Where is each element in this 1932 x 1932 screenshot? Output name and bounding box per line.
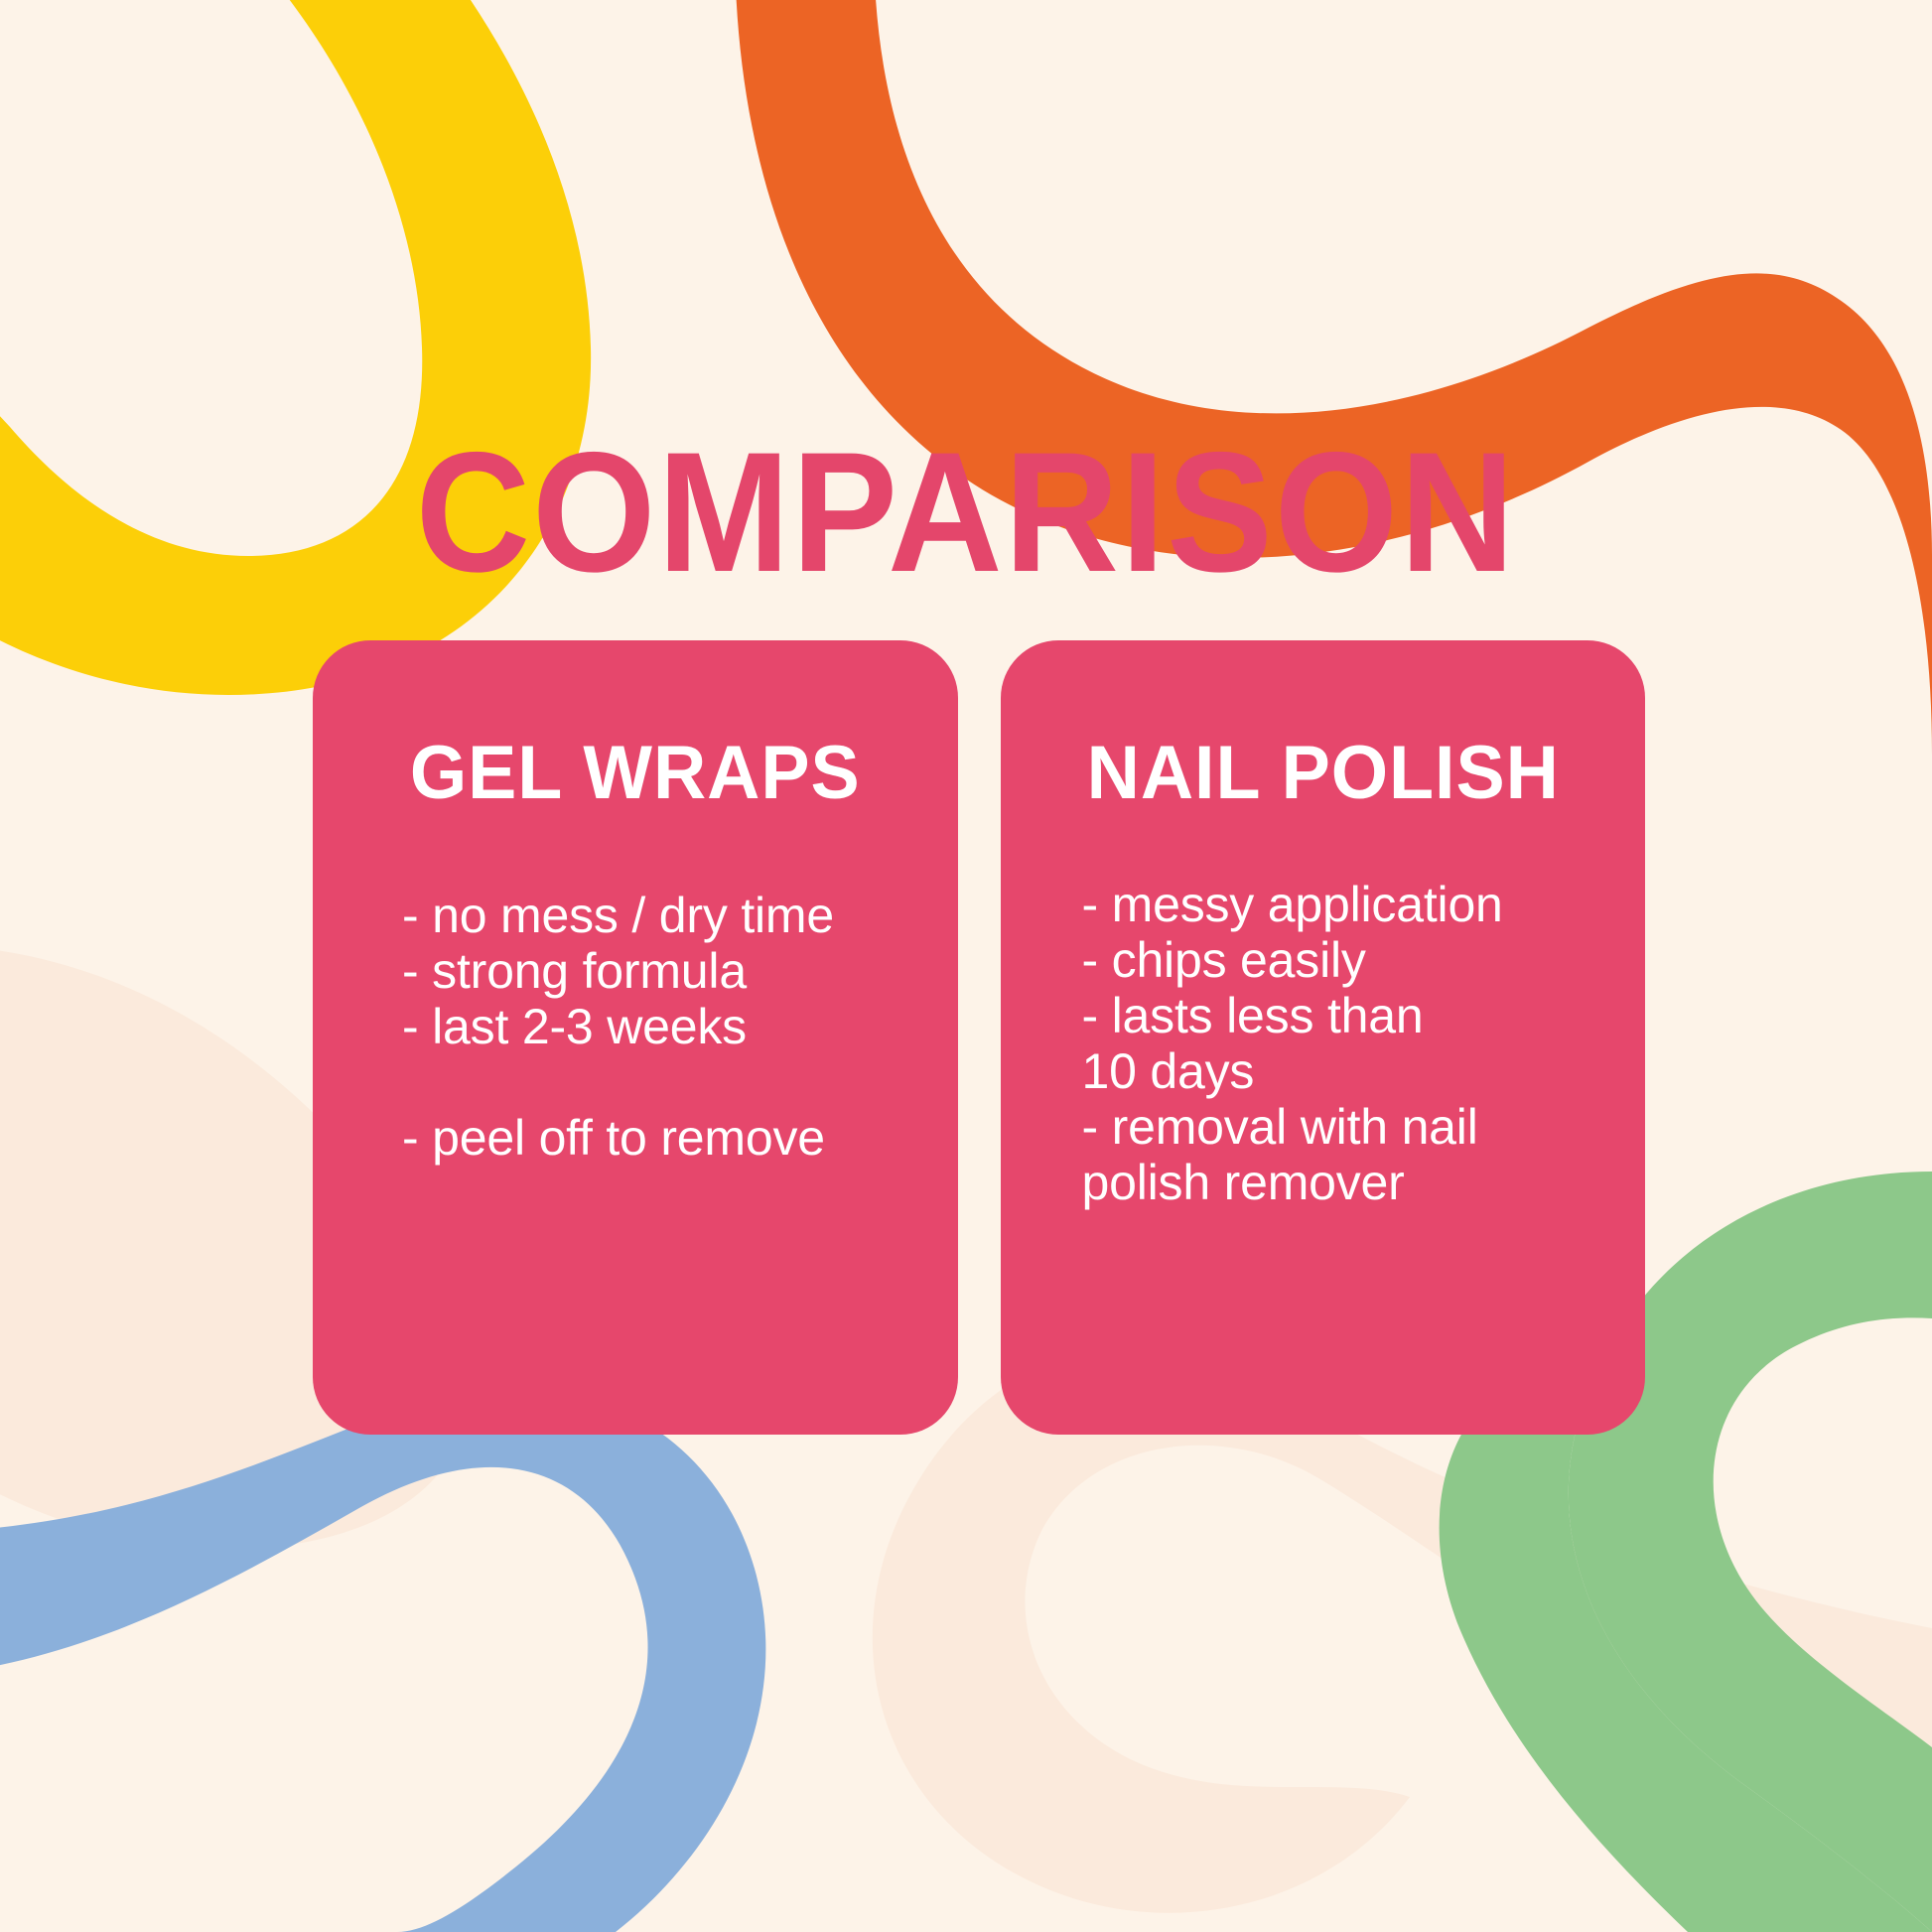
- comparison-card-gel-wraps: GEL WRAPS - no mess / dry time - strong …: [313, 640, 958, 1435]
- comparison-poster: COMPARISON GEL WRAPS - no mess / dry tim…: [0, 0, 1932, 1932]
- comparison-card-nail-polish: NAIL POLISH - messy application - chips …: [1001, 640, 1646, 1435]
- card-list-gel-wraps: - no mess / dry time - strong formula - …: [402, 888, 958, 1166]
- list-item: - removal with nail polish remover: [1082, 1099, 1646, 1210]
- list-item: - strong formula: [402, 943, 958, 999]
- card-title-gel-wraps: GEL WRAPS: [323, 736, 948, 811]
- list-item: - chips easily: [1082, 932, 1646, 988]
- page-title: COMPARISON: [68, 427, 1864, 598]
- list-item: - last 2-3 weeks: [402, 999, 958, 1054]
- card-title-nail-polish: NAIL POLISH: [1010, 736, 1635, 811]
- list-item: - lasts less than 10 days: [1082, 988, 1646, 1099]
- list-item: - peel off to remove: [402, 1110, 958, 1166]
- list-item: - no mess / dry time: [402, 888, 958, 943]
- list-item: - messy application: [1082, 877, 1646, 932]
- card-list-nail-polish: - messy application - chips easily - las…: [1082, 877, 1646, 1210]
- comparison-cards: GEL WRAPS - no mess / dry time - strong …: [313, 640, 1645, 1435]
